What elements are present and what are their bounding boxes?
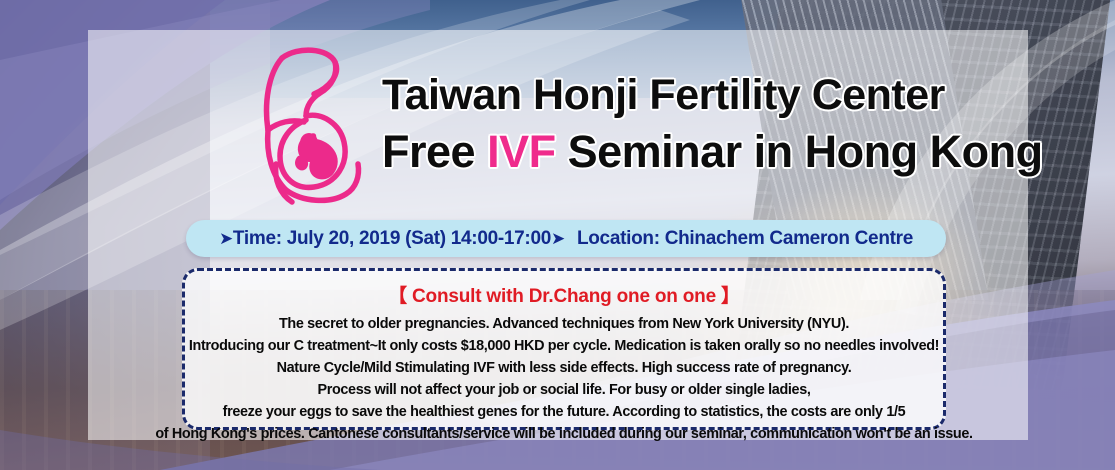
consult-title: 【 Consult with Dr.Chang one on one 】 [388, 281, 740, 308]
pregnant-mother-fetus-logo-icon [252, 44, 374, 210]
detail-line: Process will not affect your job or soci… [317, 379, 810, 401]
right-chevron-icon-trailing: ➤ [551, 229, 565, 248]
details-dashed-box: 【 Consult with Dr.Chang one on one 】 The… [182, 268, 946, 430]
headline-line-1: Taiwan Honji Fertility Center [382, 74, 962, 117]
detail-line: Nature Cycle/Mild Stimulating IVF with l… [277, 357, 852, 379]
headline-line-2: Free IVF Seminar in Hong Kong [382, 129, 962, 174]
headline-free-text: Free [382, 126, 487, 177]
pill-text-row: ➤Time: July 20, 2019 (Sat) 14:00-17:00➤L… [219, 228, 913, 250]
headline-seminar-text: Seminar in Hong Kong [556, 126, 1043, 177]
location-label: Location: Chinachem Cameron Centre [577, 228, 913, 249]
detail-line: freeze your eggs to save the healthiest … [223, 401, 906, 423]
detail-line: Introducing our C treatment~It only cost… [189, 335, 939, 357]
detail-line: of Hong Kong's prices. Cantonese consult… [155, 423, 972, 445]
right-chevron-icon-leading: ➤ [219, 229, 233, 248]
time-location-pill: ➤Time: July 20, 2019 (Sat) 14:00-17:00➤L… [186, 220, 946, 257]
headline-block: Taiwan Honji Fertility Center Free IVF S… [382, 74, 962, 174]
detail-line: The secret to older pregnancies. Advance… [279, 313, 849, 335]
time-label: Time: July 20, 2019 (Sat) 14:00-17:00 [233, 228, 551, 249]
headline-ivf-highlight: IVF [487, 126, 556, 177]
promo-banner: Taiwan Honji Fertility Center Free IVF S… [0, 0, 1115, 470]
